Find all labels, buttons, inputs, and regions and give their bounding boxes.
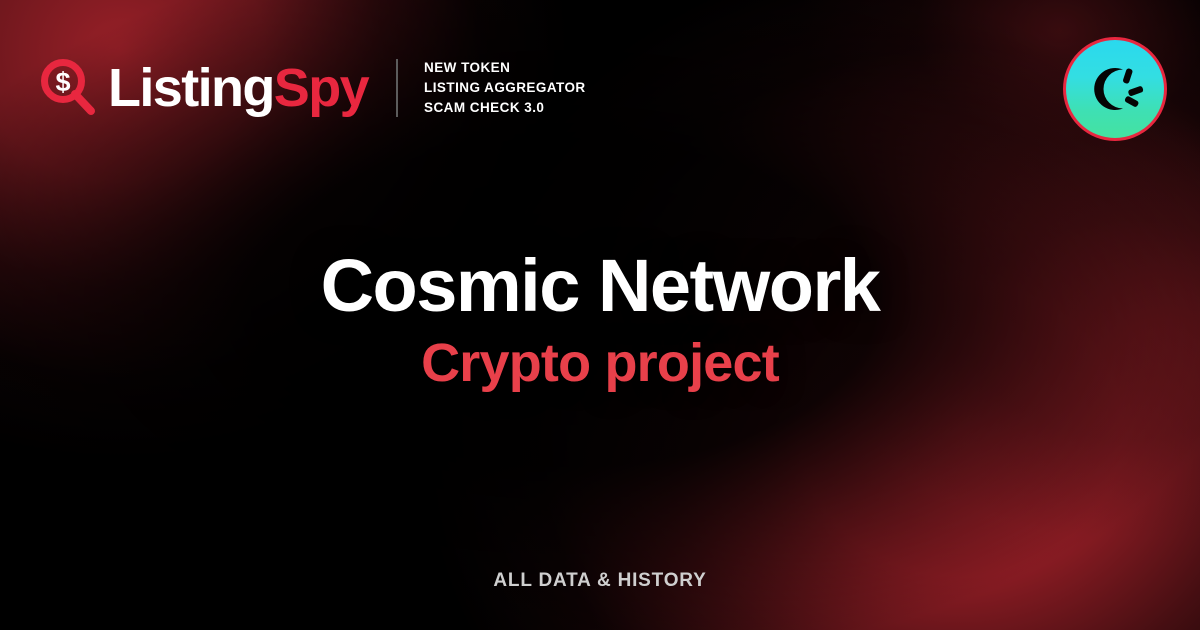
brand-wordmark: ListingSpy [108,61,368,115]
brand-name-primary: Listing [108,58,274,118]
header-divider [396,59,398,117]
crescent-rays-badge [1063,37,1167,141]
svg-text:$: $ [55,67,70,97]
brand-name-secondary: Spy [274,58,368,118]
promo-banner: $ ListingSpy NEW TOKEN LISTING AGGREGATO… [0,0,1200,630]
crescent-rays-icon [1082,56,1148,122]
brand-tagline: NEW TOKEN LISTING AGGREGATOR SCAM CHECK … [424,58,586,117]
page-subtitle: Crypto project [0,335,1200,392]
tagline-line-3: SCAM CHECK 3.0 [424,98,586,118]
brand-header: $ ListingSpy NEW TOKEN LISTING AGGREGATO… [36,56,586,120]
page-title: Cosmic Network [0,248,1200,323]
tagline-line-2: LISTING AGGREGATOR [424,78,586,98]
tagline-line-1: NEW TOKEN [424,58,586,78]
magnifier-dollar-icon: $ [36,56,100,120]
headline-block: Cosmic Network Crypto project [0,248,1200,392]
footer-strapline: ALL DATA & HISTORY [0,570,1200,592]
